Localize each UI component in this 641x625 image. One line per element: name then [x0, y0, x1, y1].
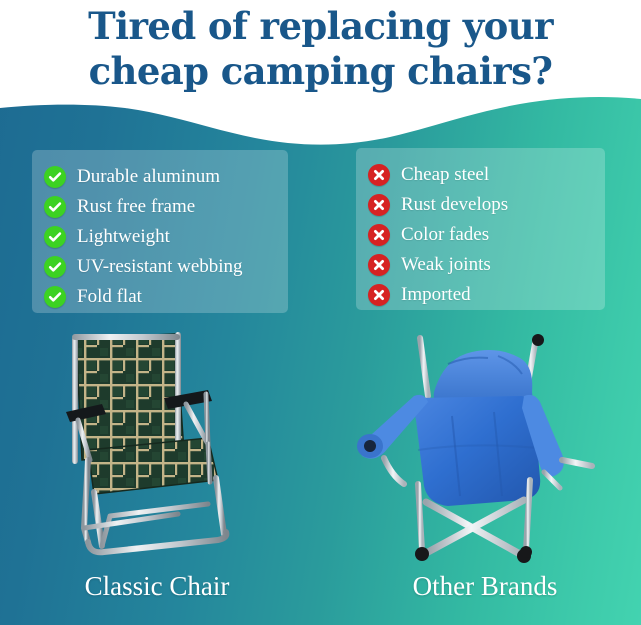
list-item: Rust develops	[368, 190, 595, 220]
check-circle-icon	[44, 256, 66, 278]
list-item-label: Fold flat	[77, 286, 142, 308]
list-item: Lightweight	[44, 222, 278, 252]
list-item-label: Color fades	[401, 224, 489, 246]
list-item: Fold flat	[44, 282, 278, 312]
list-item-label: Cheap steel	[401, 164, 489, 186]
list-item: Cheap steel	[368, 160, 595, 190]
other-brand-chair-image	[348, 330, 598, 567]
headline-line-2: cheap camping chairs?	[0, 49, 641, 94]
classic-chair-image	[58, 332, 268, 564]
x-circle-icon	[368, 224, 390, 246]
x-circle-icon	[368, 284, 390, 306]
benefits-card: Durable aluminum Rust free frame Lightwe…	[32, 150, 288, 313]
other-brands-caption: Other Brands	[350, 570, 620, 602]
drawbacks-card: Cheap steel Rust develops Color fades	[356, 148, 605, 310]
list-item-label: Imported	[401, 284, 471, 306]
check-circle-icon	[44, 286, 66, 308]
list-item: UV-resistant webbing	[44, 252, 278, 282]
list-item: Weak joints	[368, 250, 595, 280]
list-item-label: Rust develops	[401, 194, 508, 216]
classic-chair-caption: Classic Chair	[12, 570, 302, 602]
page-title: Tired of replacing your cheap camping ch…	[0, 4, 641, 94]
list-item-label: Durable aluminum	[77, 166, 220, 188]
headline-line-1: Tired of replacing your	[0, 4, 641, 49]
x-circle-icon	[368, 194, 390, 216]
list-item-label: Rust free frame	[77, 196, 195, 218]
list-item: Durable aluminum	[44, 162, 278, 192]
list-item-label: Lightweight	[77, 226, 170, 248]
x-circle-icon	[368, 164, 390, 186]
check-circle-icon	[44, 196, 66, 218]
x-circle-icon	[368, 254, 390, 276]
check-circle-icon	[44, 166, 66, 188]
promo-comparison-poster: Tired of replacing your cheap camping ch…	[0, 0, 641, 625]
list-item: Rust free frame	[44, 192, 278, 222]
list-item: Imported	[368, 280, 595, 310]
list-item-label: UV-resistant webbing	[77, 256, 243, 278]
list-item-label: Weak joints	[401, 254, 491, 276]
list-item: Color fades	[368, 220, 595, 250]
check-circle-icon	[44, 226, 66, 248]
